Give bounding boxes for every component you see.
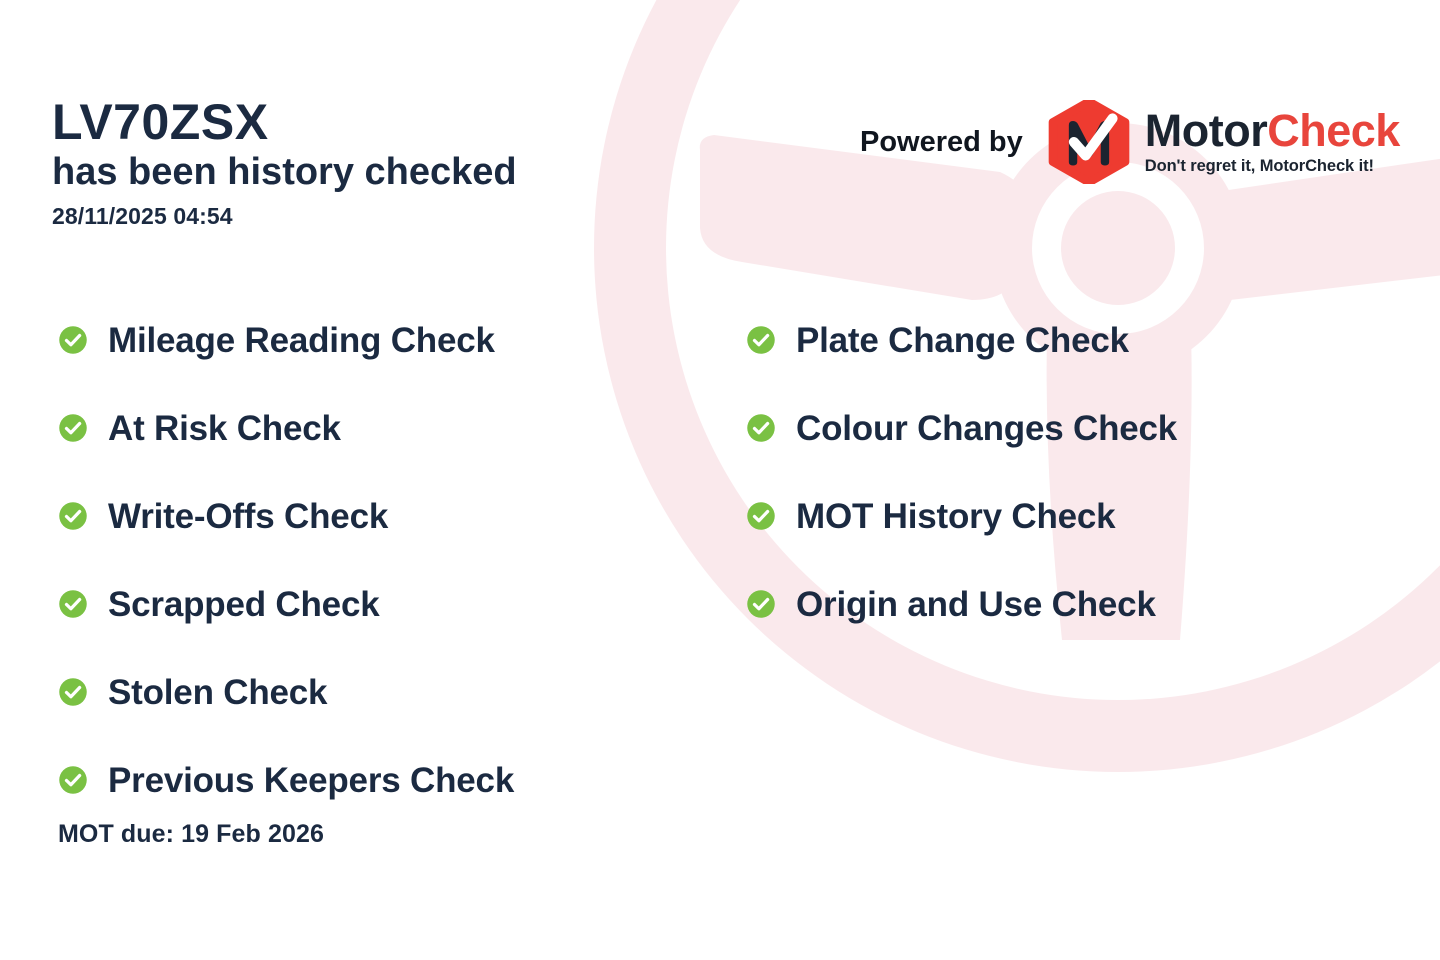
check-item: Colour Changes Check	[746, 384, 1177, 472]
check-item: Origin and Use Check	[746, 560, 1177, 648]
check-item-label: Scrapped Check	[108, 587, 379, 622]
wordmark-motor: Motor	[1145, 105, 1267, 156]
checks-column-left: Mileage Reading Check At Risk Check Writ…	[58, 296, 514, 824]
check-item: Plate Change Check	[746, 296, 1177, 384]
check-item-label: Write-Offs Check	[108, 499, 388, 534]
page-title: has been history checked	[52, 149, 517, 197]
check-circle-icon	[746, 325, 776, 355]
mot-due-date: MOT due: 19 Feb 2026	[58, 820, 324, 849]
check-item: At Risk Check	[58, 384, 514, 472]
check-circle-icon	[58, 413, 88, 443]
motorcheck-wordmark-block: MotorCheck Don't regret it, MotorCheck i…	[1145, 108, 1400, 176]
check-circle-icon	[58, 501, 88, 531]
check-item-label: Mileage Reading Check	[108, 323, 495, 358]
check-circle-icon	[746, 413, 776, 443]
check-circle-icon	[58, 325, 88, 355]
vehicle-registration-plate: LV70ZSX	[52, 96, 517, 149]
check-item: Mileage Reading Check	[58, 296, 514, 384]
motorcheck-logo[interactable]: MotorCheck Don't regret it, MotorCheck i…	[1047, 100, 1400, 184]
header-block: LV70ZSX has been history checked 28/11/2…	[52, 96, 517, 230]
check-item: Write-Offs Check	[58, 472, 514, 560]
check-item-label: Previous Keepers Check	[108, 763, 514, 798]
check-circle-icon	[58, 765, 88, 795]
check-item-label: MOT History Check	[796, 499, 1115, 534]
check-circle-icon	[746, 501, 776, 531]
check-item: MOT History Check	[746, 472, 1177, 560]
check-item-label: Origin and Use Check	[796, 587, 1156, 622]
check-item-label: Stolen Check	[108, 675, 327, 710]
check-item-label: Colour Changes Check	[796, 411, 1177, 446]
powered-by-label: Powered by	[860, 126, 1023, 159]
brand-tagline: Don't regret it, MotorCheck it!	[1145, 157, 1400, 176]
check-item: Stolen Check	[58, 648, 514, 736]
checks-column-right: Plate Change Check Colour Changes Check …	[746, 296, 1177, 648]
check-circle-icon	[58, 677, 88, 707]
wordmark-check: Check	[1267, 105, 1400, 156]
history-check-summary-card: LV70ZSX has been history checked 28/11/2…	[0, 0, 1440, 960]
check-timestamp: 28/11/2025 04:54	[52, 203, 517, 230]
powered-by-brand-bar: Powered by MotorCheck Don't regret it, M…	[860, 100, 1400, 184]
motorcheck-wordmark: MotorCheck	[1145, 108, 1400, 153]
check-circle-icon	[746, 589, 776, 619]
check-item-label: At Risk Check	[108, 411, 341, 446]
check-item: Scrapped Check	[58, 560, 514, 648]
check-item: Previous Keepers Check	[58, 736, 514, 824]
motorcheck-hexagon-logo-icon	[1047, 100, 1131, 184]
check-circle-icon	[58, 589, 88, 619]
check-item-label: Plate Change Check	[796, 323, 1129, 358]
